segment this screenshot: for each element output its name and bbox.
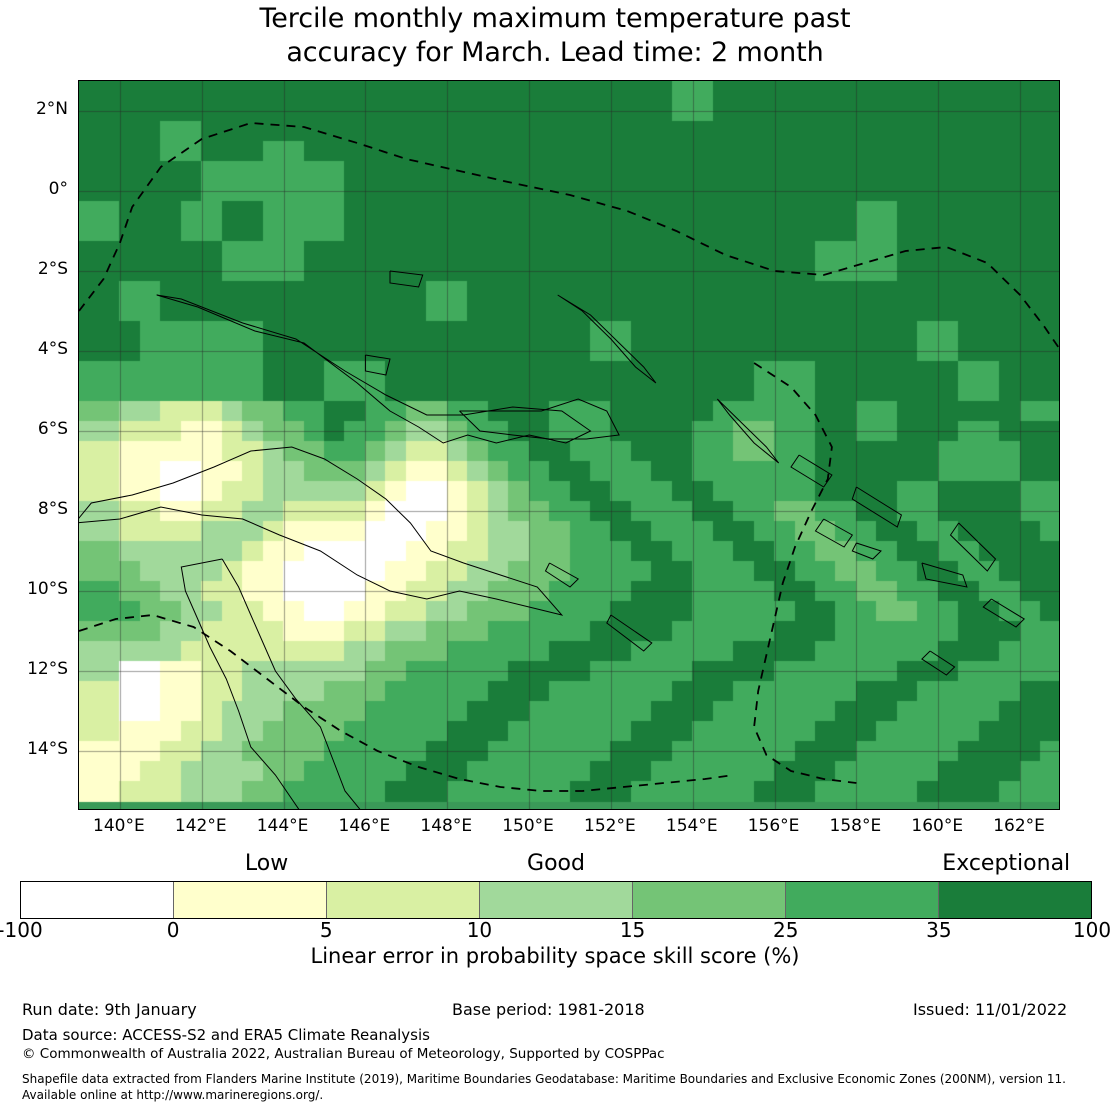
coastline	[922, 651, 955, 675]
colorbar-tick-0: -100	[0, 919, 90, 941]
colorbar-category-low: Low	[137, 852, 397, 876]
colorbar-tick-5: 25	[716, 919, 856, 941]
coastline	[816, 519, 853, 547]
run-date: Run date: 9th January	[22, 1000, 197, 1019]
lat-tick-4: 6°S	[0, 421, 68, 438]
lat-tick-3: 4°S	[0, 341, 68, 358]
shapefile-credit-line-1: Shapefile data extracted from Flanders M…	[22, 1072, 1066, 1086]
colorbar-segment-6	[938, 882, 1091, 918]
issued-date: Issued: 11/01/2022	[913, 1000, 1067, 1019]
coastline	[558, 295, 656, 383]
colorbar-segment-0	[21, 882, 173, 918]
coastline	[922, 563, 967, 587]
colorbar-segment-3	[479, 882, 632, 918]
map-page: Tercile monthly maximum temperature past…	[0, 0, 1110, 1110]
coastline	[717, 399, 778, 463]
lat-tick-6: 10°S	[0, 581, 68, 598]
eez-boundary	[79, 615, 734, 791]
colorbar-segment-5	[785, 882, 938, 918]
coastline	[157, 295, 591, 443]
map-overlays	[79, 81, 1060, 810]
coastline	[983, 599, 1024, 627]
coastline	[79, 447, 562, 615]
coastline	[951, 523, 996, 571]
colorbar-title: Linear error in probability space skill …	[0, 944, 1110, 968]
colorbar-tick-3: 10	[409, 919, 549, 941]
title-line-2: accuracy for March. Lead time: 2 month	[0, 36, 1110, 70]
colorbar-tick-2: 5	[256, 919, 396, 941]
data-source: Data source: ACCESS-S2 and ERA5 Climate …	[22, 1026, 430, 1044]
coastline	[365, 355, 390, 375]
colorbar[interactable]	[20, 881, 1092, 919]
coastline	[791, 455, 832, 487]
map-plot-area[interactable]	[78, 80, 1060, 810]
coastline	[546, 563, 579, 587]
lat-tick-1: 0°	[0, 181, 68, 198]
colorbar-swatches	[20, 881, 1092, 919]
coastline	[390, 271, 423, 287]
colorbar-category-good: Good	[426, 852, 686, 876]
colorbar-segment-4	[632, 882, 785, 918]
colorbar-tick-6: 35	[869, 919, 1009, 941]
lat-tick-5: 8°S	[0, 501, 68, 518]
page-title: Tercile monthly maximum temperature past…	[0, 2, 1110, 70]
lat-tick-8: 14°S	[0, 741, 68, 758]
base-period: Base period: 1981-2018	[452, 1000, 645, 1019]
coastline	[852, 543, 881, 559]
lat-tick-7: 12°S	[0, 661, 68, 678]
coastline	[181, 559, 361, 810]
colorbar-segment-1	[173, 882, 326, 918]
shapefile-credit-line-2: Available online at http://www.marinereg…	[22, 1088, 323, 1102]
lat-tick-0: 2°N	[0, 101, 68, 118]
lat-tick-2: 2°S	[0, 261, 68, 278]
eez-boundary	[754, 363, 856, 783]
coastline	[607, 615, 652, 651]
lon-tick-11: 162°E	[959, 818, 1079, 835]
colorbar-tick-7: 100	[1022, 919, 1110, 941]
title-line-1: Tercile monthly maximum temperature past	[0, 2, 1110, 36]
colorbar-tick-1: 0	[103, 919, 243, 941]
coastline	[852, 487, 901, 527]
coastline	[460, 399, 620, 439]
copyright-notice: © Commonwealth of Australia 2022, Austra…	[22, 1046, 665, 1062]
colorbar-segment-2	[326, 882, 479, 918]
colorbar-tick-4: 15	[563, 919, 703, 941]
colorbar-category-exceptional: Exceptional	[876, 852, 1110, 876]
